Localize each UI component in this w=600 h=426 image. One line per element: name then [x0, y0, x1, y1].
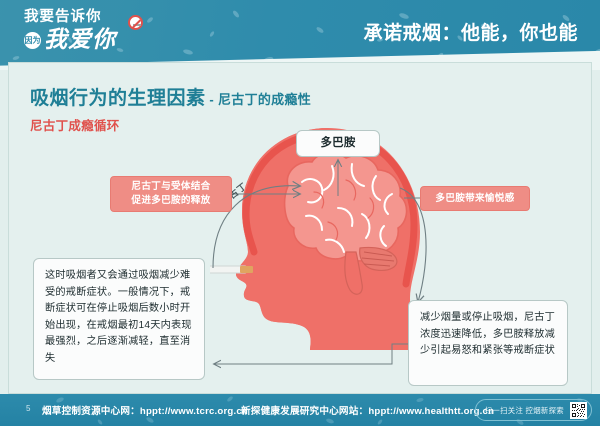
dopamine-box: 多巴胺	[296, 130, 380, 157]
logo-line-1: 我要告诉你	[24, 9, 164, 25]
page-header: 我要告诉你 因为 我爱你 承诺戒烟：他能，你也能	[0, 0, 600, 70]
page-title-main: 吸烟行为的生理因素	[30, 88, 206, 109]
section-subtitle: 尼古丁成瘾循环	[30, 115, 120, 134]
withdrawal-symptoms-box: 这时吸烟者又会通过吸烟减少难受的戒断症状。一般情况下，戒断症状可在停止吸烟后数小…	[33, 258, 205, 380]
reduce-text: 减少烟量或停止吸烟，尼古丁浓度迅速降低，多巴胺释放减少引起易怒和紧张等戒断症状	[420, 310, 556, 360]
header-slogan: 承诺戒烟：他能，你也能	[363, 18, 578, 45]
withdrawal-text: 这时吸烟者又会通过吸烟减少难受的戒断症状。一般情况下，戒断症状可在停止吸烟后数小…	[45, 268, 193, 367]
footer-link-tcrc[interactable]: 烟草控制资源中心网：hppt://www.tcrc.org.cn	[42, 403, 248, 417]
page-title: 吸烟行为的生理因素 - 尼古丁的成瘾性	[30, 83, 311, 110]
campaign-logo: 我要告诉你 因为 我爱你	[24, 9, 164, 57]
no-smoking-icon	[128, 15, 143, 30]
qr-code-icon	[570, 402, 587, 419]
footer-link-healthtt[interactable]: 新探健康发展研究中心网站：hppt://www.healthtt.org.cn	[241, 403, 494, 417]
cigarette-icon	[210, 266, 253, 273]
logo-badge: 因为	[24, 32, 41, 49]
qr-follow-badge[interactable]: 扫一扫关注 控烟新探索	[475, 399, 592, 421]
nicotine-receptor-line-1: 尼古丁与受体结合	[131, 180, 210, 194]
page-footer: 5 烟草控制资源中心网：hppt://www.tcrc.org.cn 新探健康发…	[0, 394, 600, 426]
pleasure-box: 多巴胺带来愉悦感	[420, 186, 530, 211]
qr-follow-text: 扫一扫关注 控烟新探索	[485, 405, 564, 416]
logo-line-2: 我爱你	[44, 27, 116, 51]
poster-page: 我要告诉你 因为 我爱你 承诺戒烟：他能，你也能 吸烟行为的生理因素 - 尼古丁…	[0, 0, 600, 426]
reduce-smoking-box: 减少烟量或停止吸烟，尼古丁浓度迅速降低，多巴胺释放减少引起易怒和紧张等戒断症状	[408, 300, 568, 386]
nicotine-receptor-box: 尼古丁与受体结合 促进多巴胺的释放	[110, 176, 232, 212]
nicotine-receptor-line-2: 促进多巴胺的释放	[131, 194, 210, 208]
page-title-sub: - 尼古丁的成瘾性	[206, 92, 312, 107]
page-number: 5	[26, 404, 30, 413]
